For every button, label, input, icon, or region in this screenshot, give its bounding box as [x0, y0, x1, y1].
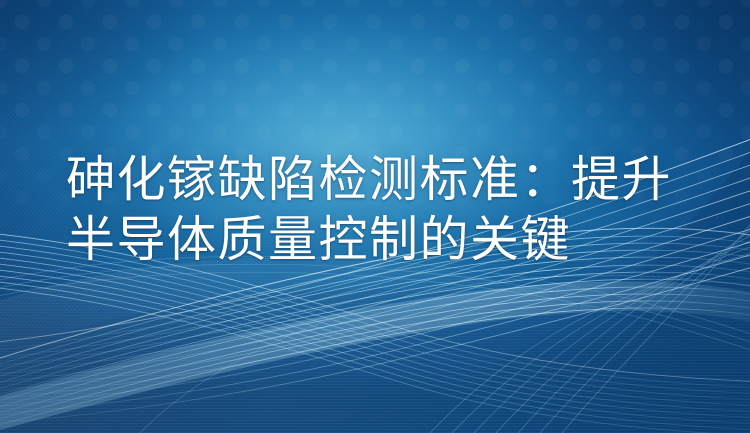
article-cover-banner: 砷化镓缺陷检测标准：提升 半导体质量控制的关键 — [0, 0, 750, 433]
title-line-2: 半导体质量控制的关键 — [66, 210, 706, 270]
page-title: 砷化镓缺陷检测标准：提升 半导体质量控制的关键 — [66, 150, 706, 270]
title-line-1: 砷化镓缺陷检测标准：提升 — [66, 150, 706, 210]
